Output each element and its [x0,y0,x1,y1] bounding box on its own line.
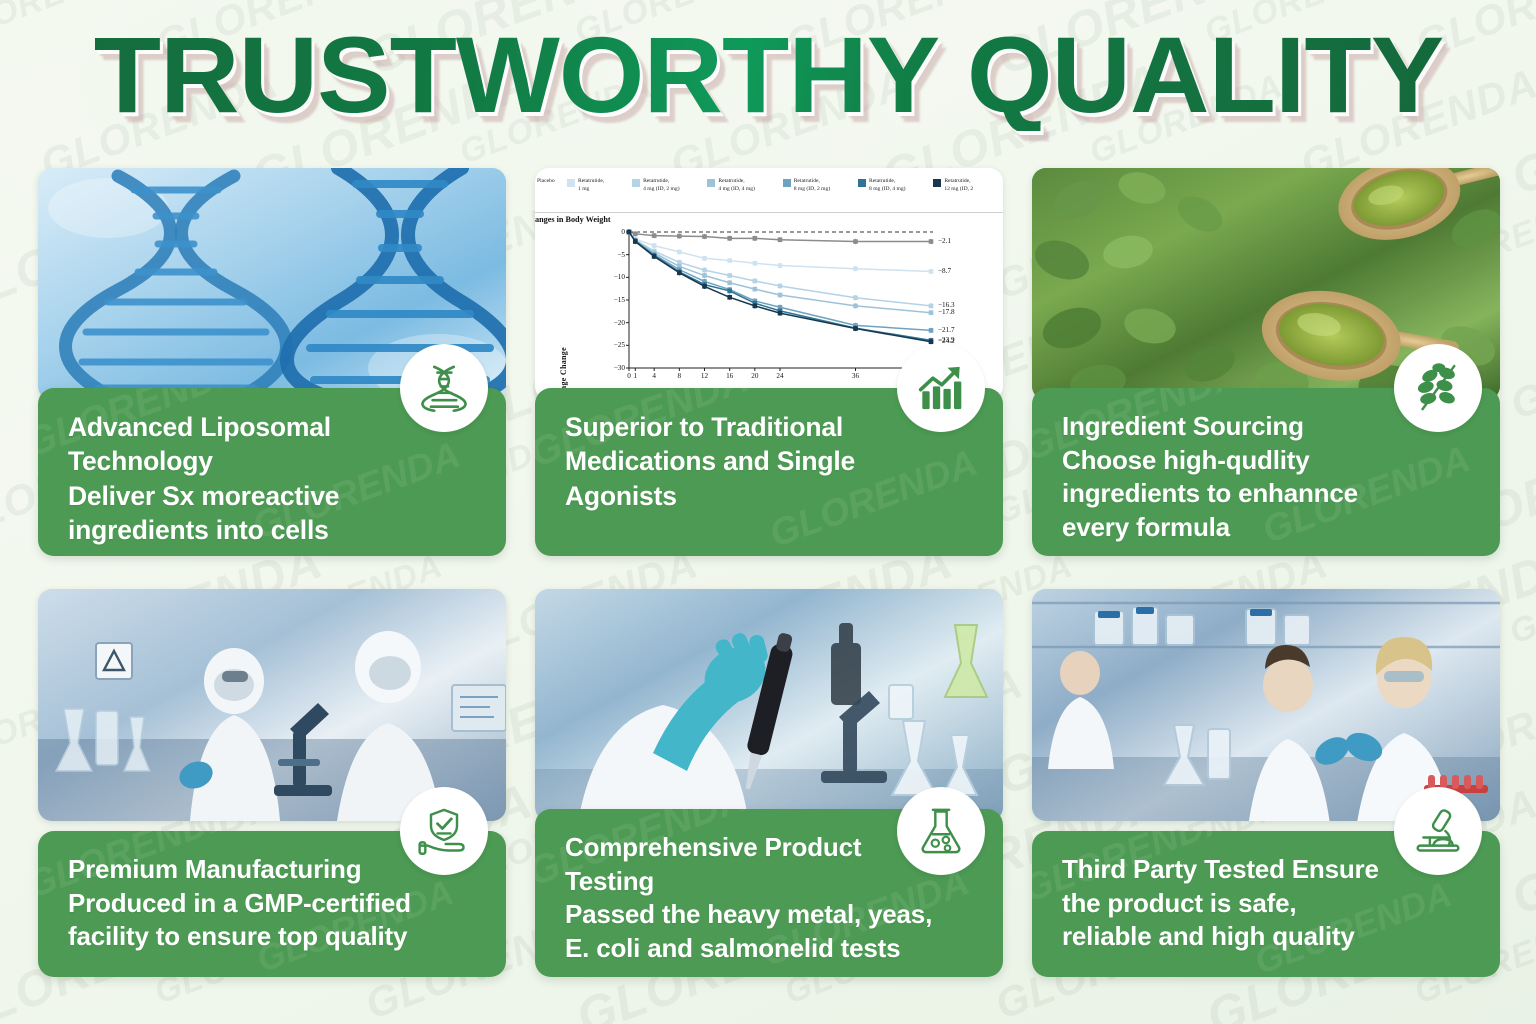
page-title: TRUSTWORTHY QUALITY [93,18,1442,131]
leaf-branch-icon-badge [1394,344,1482,432]
card-line: facility to ensure top quality [68,920,480,954]
watermark-text: GLORENDA [1504,299,1536,429]
chart-y-tick: −30 [603,364,625,372]
feature-card-superior-to-traditional-medications[interactable]: PlaceboRetatrutide, 1 mgRetatrutide, 4 m… [535,168,1003,556]
card-text-block: Ingredient Sourcing Choose high-qudlity … [1062,410,1474,544]
card-line: Agonists [565,479,977,513]
growth-chart-icon [915,362,967,414]
chart-y-tick: 0 [603,228,625,236]
flask-icon [915,805,967,857]
hand-shield-check-icon [418,805,470,857]
card-line: Technology [68,444,480,478]
dna-icon-badge [400,344,488,432]
feature-card-premium-manufacturing[interactable]: GLORENDA GLORENDA Premium Manufacturing … [38,589,506,977]
microscope-icon-badge [1394,787,1482,875]
flask-icon-badge [897,787,985,875]
chart-end-label: −8.7 [938,267,951,275]
card-line: E. coli and salmonelid tests [565,932,977,966]
lab-team-illustration [1032,589,1500,821]
card-text-block: Superior to Traditional Medications and … [565,410,977,513]
feature-card-comprehensive-product-testing[interactable]: GLORENDA GLORENDA Comprehensive Product … [535,589,1003,977]
chart-x-tick: 24 [775,372,785,380]
feature-card-ingredient-sourcing[interactable]: GLORENDA GLORENDA Ingredient Sourcing Ch… [1032,168,1500,556]
card-text-block: Premium Manufacturing Produced in a GMP-… [68,853,480,954]
watermark-text: GLORENDA [1504,771,1536,926]
watermark-text: GLORENDA [1504,547,1536,653]
growth-chart-icon-badge [897,344,985,432]
card-text-block: Advanced Liposomal Technology Deliver Sx… [68,410,480,548]
card-line: Testing [565,865,977,899]
card-text-block: Third Party Tested Ensure the product is… [1062,853,1474,954]
hand-shield-check-icon-badge [400,787,488,875]
feature-card-third-party-tested[interactable]: GLORENDA GLORENDA Third Party Tested Ens… [1032,589,1500,977]
cleanroom-illustration [38,589,506,821]
card-line: Produced in a GMP-certified [68,887,480,921]
chart-x-tick: 8 [674,372,684,380]
chart-end-label: −21.7 [938,326,955,334]
leaf-branch-icon [1412,362,1464,414]
chart-end-label: −17.8 [938,308,955,316]
chart-x-tick: 12 [700,372,710,380]
chart-y-tick: −10 [603,273,625,281]
chart-x-tick: 1 [630,372,640,380]
chart-y-tick: −25 [603,341,625,349]
card-line: every formula [1062,511,1474,545]
card-line: ingredients to enhannce [1062,477,1474,511]
feature-card-advanced-liposomal-technology[interactable]: GLORENDA GLORENDA Advanced Liposomal Tec… [38,168,506,556]
page-title-wrap: TRUSTWORTHY QUALITY [0,18,1536,131]
chart-x-tick: 36 [851,372,861,380]
cleanroom-lab-photo [38,589,506,821]
card-line: the product is safe, [1062,887,1474,921]
chart-x-tick: 16 [725,372,735,380]
card-line: ingredients into cells [68,513,480,547]
chart-x-tick: 20 [750,372,760,380]
card-line: reliable and high quality [1062,920,1474,954]
card-line: Medications and Single [565,444,977,478]
pipette-illustration [535,589,1003,821]
feature-card-grid: GLORENDA GLORENDA Advanced Liposomal Tec… [38,168,1500,980]
chart-x-tick: 4 [649,372,659,380]
pipette-lab-photo [535,589,1003,821]
chart-end-label: −2.1 [938,237,951,245]
card-line: Passed the heavy metal, yeas, [565,898,977,932]
microscope-icon [1412,805,1464,857]
chart-y-tick: −5 [603,251,625,259]
dna-icon [418,362,470,414]
card-line: Choose high-qudlity [1062,444,1474,478]
lab-team-photo [1032,589,1500,821]
card-line: Deliver Sx moreactive [68,479,480,513]
chart-y-tick: −20 [603,319,625,327]
chart-y-tick: −15 [603,296,625,304]
